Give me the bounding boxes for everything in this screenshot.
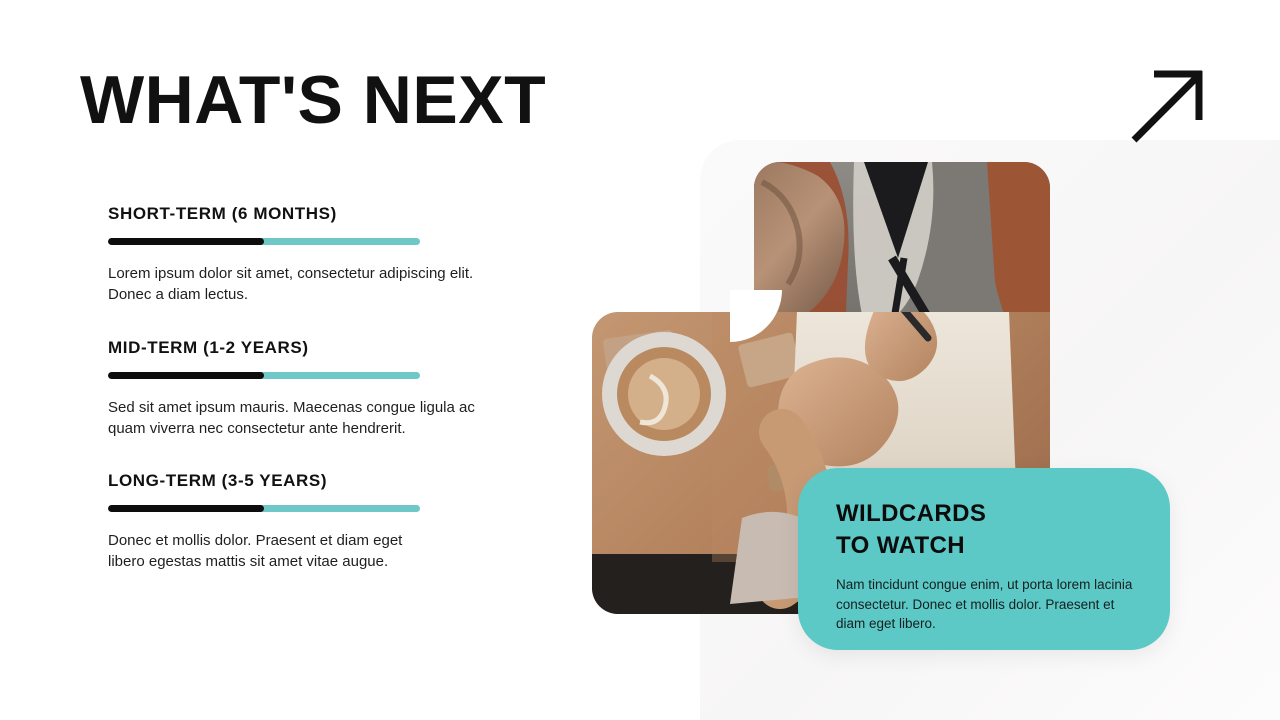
arrow-up-right-icon bbox=[1128, 58, 1218, 146]
progress-bar-fill bbox=[108, 505, 264, 512]
wildcards-card-body: Nam tincidunt congue enim, ut porta lore… bbox=[836, 575, 1136, 632]
slide-canvas: WHAT'S NEXT SHORT-TERM (6 MONTHS) Lorem … bbox=[0, 0, 1280, 720]
progress-bar bbox=[108, 505, 420, 512]
workspace-photo bbox=[754, 162, 1050, 322]
wildcards-card: WILDCARDS TO WATCH Nam tincidunt congue … bbox=[798, 468, 1170, 650]
progress-bar bbox=[108, 238, 420, 245]
progress-bar-fill bbox=[108, 372, 264, 379]
page-title: WHAT'S NEXT bbox=[80, 66, 546, 134]
timeline-body: Sed sit amet ipsum mauris. Maecenas cong… bbox=[108, 397, 486, 440]
timeline-item-short-term: SHORT-TERM (6 MONTHS) Lorem ipsum dolor … bbox=[108, 204, 488, 306]
timeline-body: Donec et mollis dolor. Praesent et diam … bbox=[108, 530, 438, 573]
timeline-body: Lorem ipsum dolor sit amet, consectetur … bbox=[108, 263, 486, 306]
wildcards-card-title-line1: WILDCARDS bbox=[836, 498, 1136, 530]
progress-bar bbox=[108, 372, 420, 379]
wildcards-card-title-line2: TO WATCH bbox=[836, 530, 1136, 562]
timeline-item-long-term: LONG-TERM (3-5 YEARS) Donec et mollis do… bbox=[108, 471, 488, 573]
timeline-heading: SHORT-TERM (6 MONTHS) bbox=[108, 204, 488, 224]
timeline-heading: LONG-TERM (3-5 YEARS) bbox=[108, 471, 488, 491]
timeline-heading: MID-TERM (1-2 YEARS) bbox=[108, 338, 488, 358]
wildcards-card-title: WILDCARDS TO WATCH bbox=[836, 498, 1136, 561]
timeline-list: SHORT-TERM (6 MONTHS) Lorem ipsum dolor … bbox=[108, 204, 488, 573]
timeline-item-mid-term: MID-TERM (1-2 YEARS) Sed sit amet ipsum … bbox=[108, 338, 488, 440]
progress-bar-fill bbox=[108, 238, 264, 245]
photo-upper-block bbox=[754, 162, 1050, 322]
